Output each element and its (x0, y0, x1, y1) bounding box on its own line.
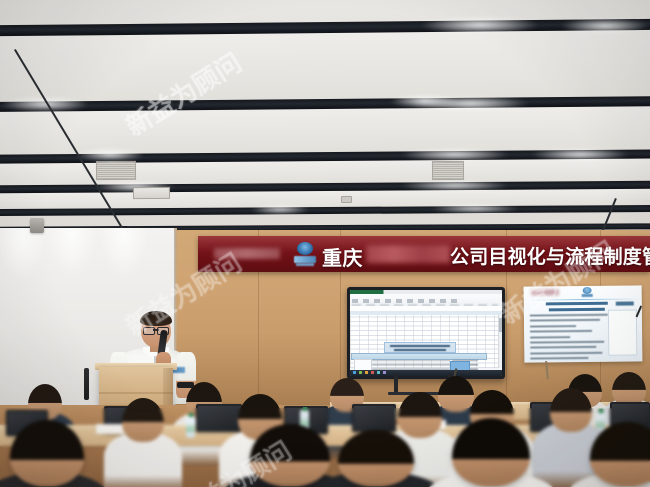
ceiling-panel (0, 30, 650, 103)
vertical-scrollbar[interactable] (498, 315, 502, 368)
laptop[interactable] (352, 404, 396, 432)
banner-city-text: 重庆 (322, 242, 363, 271)
audience-head (398, 392, 442, 438)
audience-head (550, 388, 592, 432)
poster-text-line (530, 336, 570, 338)
display-screen (350, 290, 502, 376)
poster-text-line (530, 314, 608, 317)
poster-text-line (530, 357, 588, 360)
ceiling (0, 0, 650, 242)
speaker-hair (140, 311, 172, 326)
poster-signature-label (616, 301, 634, 305)
laptop[interactable] (196, 404, 242, 432)
ribbon-tabs (352, 299, 461, 303)
poster-text-line (530, 352, 602, 355)
water-bottle (186, 416, 195, 438)
poster-text-line (530, 346, 596, 349)
poster-text-line (530, 330, 592, 333)
company-emblem-icon (294, 242, 316, 266)
poster-text-line (530, 341, 604, 344)
mic-stand-icon (84, 368, 89, 400)
poster-emblem-icon (582, 287, 593, 298)
poster-text-line (530, 325, 576, 327)
air-vent-icon (96, 161, 136, 180)
smoke-detector-icon (341, 196, 352, 203)
event-banner: 重庆 公司目视化与流程制度管理项目启动大会 (198, 236, 650, 272)
poster-redacted-logo (531, 289, 559, 295)
audience-head (438, 376, 474, 412)
conference-photo: 重庆 公司目视化与流程制度管理项目启动大会 (0, 0, 650, 487)
poster-text-line (530, 319, 600, 322)
signature-poster (524, 285, 643, 362)
banner-redacted-company (366, 245, 450, 263)
laptop-screen (198, 406, 241, 431)
banner-title-text: 公司目视化与流程制度管理项目启动大会 (450, 242, 650, 269)
wall-speaker-icon (30, 218, 44, 233)
air-vent-icon (133, 187, 170, 199)
ceiling-panel (0, 106, 650, 155)
audience-head (612, 372, 646, 406)
podium-edge (99, 392, 173, 394)
poster-body-text (530, 314, 609, 363)
bottle-cap (302, 407, 307, 411)
presentation-display[interactable] (347, 287, 505, 379)
bottle-cap (188, 413, 193, 417)
laptop-screen (354, 406, 395, 431)
audience-head (338, 430, 414, 486)
audience-head (250, 424, 330, 486)
bottle-label (596, 421, 605, 428)
poster-divider (524, 298, 642, 300)
banner-redacted-logo (214, 248, 280, 259)
spreadsheet-grid (350, 315, 502, 368)
sheet-document-title (384, 342, 456, 353)
bottle-label (186, 425, 195, 432)
audience-head (122, 398, 164, 442)
air-vent-icon (432, 161, 464, 180)
pen-icon (636, 306, 643, 318)
bottle-cap (598, 409, 603, 413)
poster-heading (546, 302, 608, 314)
poster-signature-area[interactable] (608, 309, 637, 355)
